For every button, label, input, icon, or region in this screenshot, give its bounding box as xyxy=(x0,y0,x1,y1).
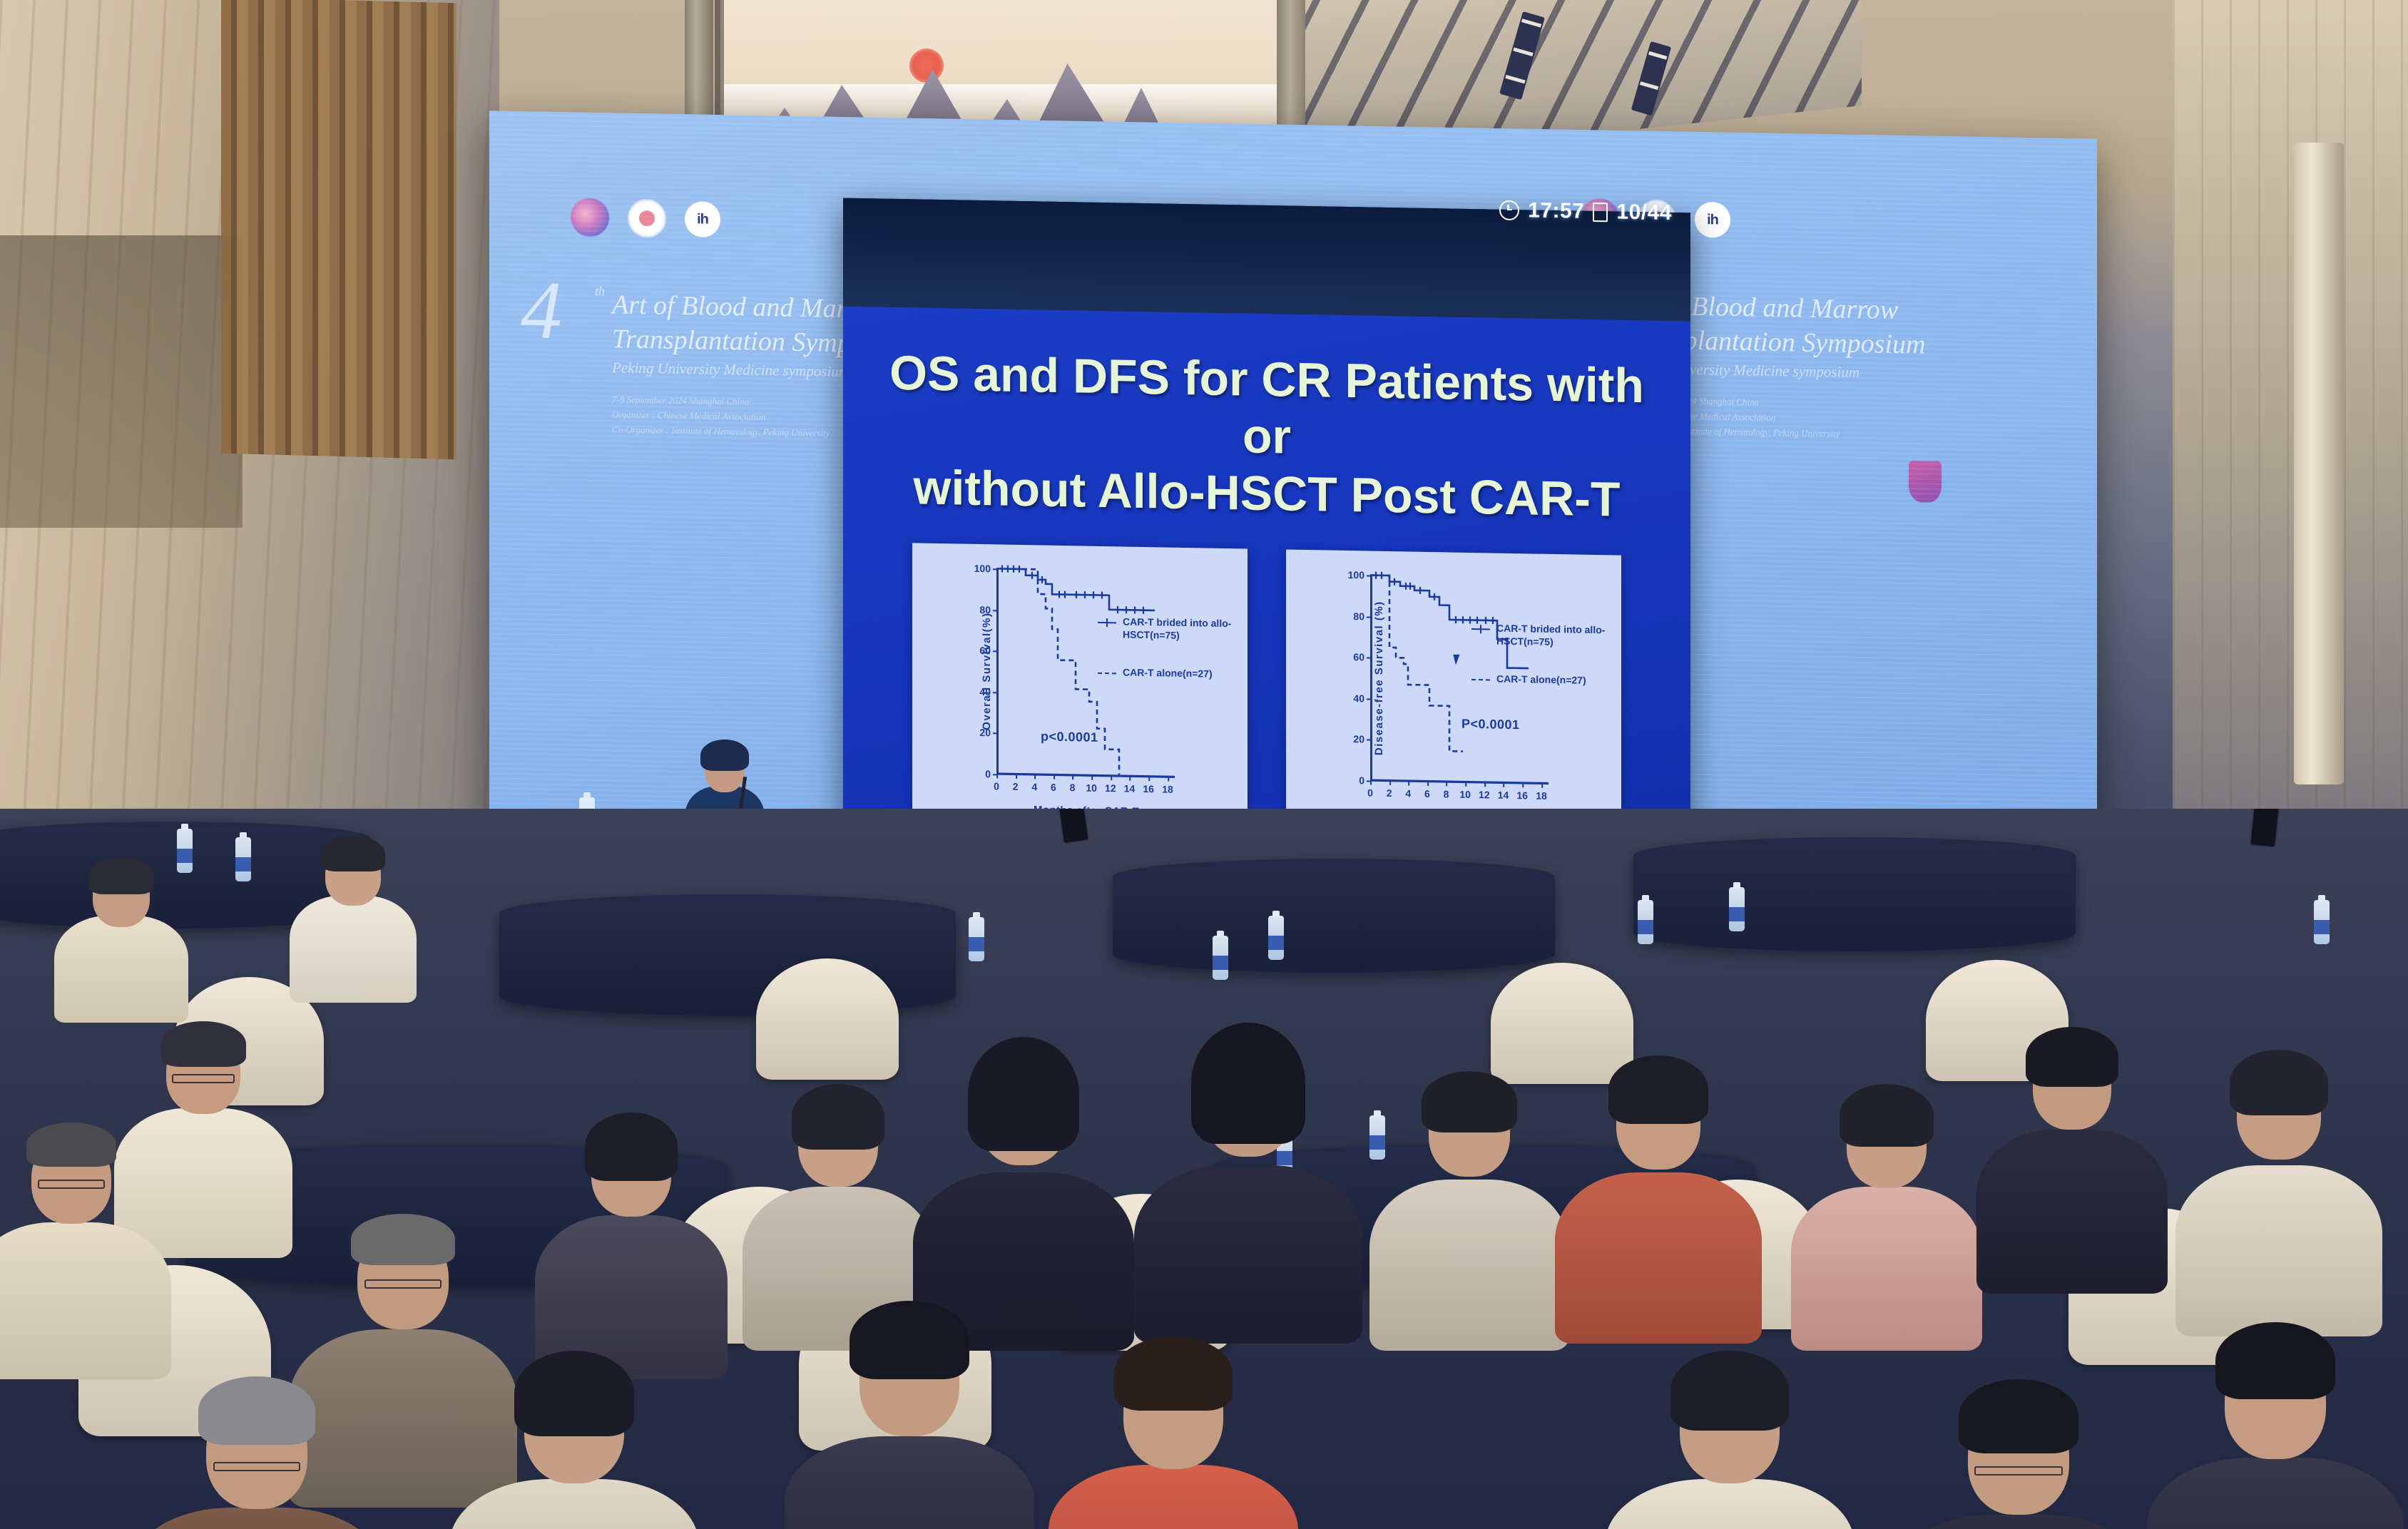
slide-status-bar: 17:57 10/44 xyxy=(1499,198,1672,225)
shanghai-badge-logo xyxy=(1909,461,1942,503)
audience-member xyxy=(1562,1051,1755,1322)
dfs-legend-label: CAR-T alone(n=27) xyxy=(1496,673,1586,687)
person-body xyxy=(2175,1165,2382,1336)
dfs-ytick: 100 xyxy=(1348,569,1364,581)
dfs-ytick: 80 xyxy=(1353,610,1364,622)
audience-member xyxy=(1377,1065,1562,1322)
audience-member xyxy=(1897,1379,2140,1529)
person-hair xyxy=(1670,1351,1789,1431)
audience-member xyxy=(792,1301,1027,1529)
water-bottle xyxy=(235,837,251,881)
solid-line-key-icon xyxy=(1098,618,1116,628)
slide-time: 17:57 xyxy=(1528,198,1584,223)
person-hair xyxy=(1959,1379,2078,1453)
os-legend-item: CAR-T alone(n=27) xyxy=(1098,665,1240,681)
audience-member xyxy=(542,1108,720,1351)
os-ytick: 20 xyxy=(979,727,991,738)
person-body xyxy=(1976,1130,2168,1294)
audience-member xyxy=(2154,1322,2397,1529)
dfs-xtick: 4 xyxy=(1405,787,1411,799)
os-xtick: 18 xyxy=(1162,783,1173,794)
os-censor-marks xyxy=(1002,566,1143,614)
smartphone xyxy=(1057,809,1090,844)
dfs-legend: CAR-T brided into allo-HSCT(n=75) CAR-T … xyxy=(1471,621,1614,712)
mural-sun xyxy=(909,48,944,83)
audience-member xyxy=(2183,1044,2375,1315)
dfs-ytick: 0 xyxy=(1359,774,1364,786)
dfs-ytick: 20 xyxy=(1353,734,1364,745)
os-xtick: 12 xyxy=(1105,782,1116,794)
os-xtick: 2 xyxy=(1013,781,1019,792)
person-hair xyxy=(88,857,154,894)
os-ytick: 60 xyxy=(979,645,991,656)
person-hair xyxy=(321,836,385,871)
person-hair xyxy=(968,1037,1079,1151)
person-hair xyxy=(351,1214,455,1265)
person-body xyxy=(1555,1172,1762,1344)
person-body xyxy=(1369,1180,1569,1351)
solid-line-key-icon xyxy=(1471,624,1490,634)
water-bottle xyxy=(1268,916,1284,960)
os-xtick: 8 xyxy=(1070,782,1076,793)
os-xtick: 4 xyxy=(1031,781,1037,792)
glasses-icon xyxy=(38,1180,105,1189)
audience-member xyxy=(1612,1351,1847,1529)
person-hair xyxy=(1608,1055,1708,1124)
dfs-xtick: 18 xyxy=(1536,790,1547,802)
slide-counter: 10/44 xyxy=(1616,200,1672,225)
pillar xyxy=(2294,143,2344,784)
person-hair xyxy=(1422,1071,1517,1132)
audience-member xyxy=(749,1080,927,1322)
clock-icon xyxy=(1499,200,1519,220)
banner-ordinal: 4 xyxy=(521,280,562,342)
person-hair xyxy=(585,1113,678,1181)
person-hair xyxy=(198,1376,315,1445)
flower-logo xyxy=(571,198,609,237)
dfs-legend-item: CAR-T brided into allo-HSCT(n=75) xyxy=(1471,621,1614,650)
university-seal-logo xyxy=(628,199,666,238)
right-wall xyxy=(2173,0,2408,948)
glasses-icon xyxy=(213,1462,300,1471)
os-y-axis-label: Overall Survival(%) xyxy=(981,612,993,730)
dfs-xtick: 8 xyxy=(1444,788,1449,799)
audience-member xyxy=(920,1037,1127,1336)
os-xtick: 10 xyxy=(1086,782,1097,794)
charts-row: Overall Survival(%) Months after CAR-T 0… xyxy=(843,542,1690,842)
audience-member xyxy=(1056,1336,1291,1529)
person-body xyxy=(290,896,417,1003)
os-xtick: 0 xyxy=(994,780,999,792)
overall-survival-chart: Overall Survival(%) Months after CAR-T 0… xyxy=(912,543,1248,834)
conference-photo: ih 4 th Art of Blood and Marrow Transpla… xyxy=(0,0,2408,1529)
dfs-xtick: 2 xyxy=(1387,787,1392,799)
disease-free-survival-chart: Disease-free Survival (%) Months after C… xyxy=(1286,549,1621,840)
os-ytick: 0 xyxy=(985,768,991,779)
audience-member xyxy=(57,850,185,1007)
dfs-series-car-t-alone xyxy=(1370,576,1463,752)
person-body xyxy=(128,1508,385,1529)
person-hair xyxy=(514,1351,634,1436)
person-body xyxy=(0,1222,171,1379)
person-body xyxy=(1134,1165,1362,1344)
person-hair xyxy=(26,1123,116,1167)
glasses-icon xyxy=(364,1279,442,1289)
slide-title: OS and DFS for CR Patients with or witho… xyxy=(843,344,1690,530)
os-legend-label: CAR-T brided into allo-HSCT(n=75) xyxy=(1123,615,1240,643)
wall-panel xyxy=(0,235,243,528)
wood-slat-wall xyxy=(221,0,456,459)
os-legend: CAR-T brided into allo-HSCT(n=75) CAR-T … xyxy=(1098,615,1240,705)
water-bottle xyxy=(969,917,984,961)
person-body xyxy=(54,916,188,1023)
dfs-censor-marks xyxy=(1376,572,1493,624)
os-pvalue: p<0.0001 xyxy=(1041,729,1098,745)
dfs-legend-item: CAR-T alone(n=27) xyxy=(1471,672,1614,687)
audience-area xyxy=(0,809,2408,1529)
person-body xyxy=(2147,1458,2404,1529)
water-bottle xyxy=(1638,900,1653,944)
dfs-legend-label: CAR-T brided into allo-HSCT(n=75) xyxy=(1496,622,1614,650)
audience-member xyxy=(1797,1080,1976,1322)
water-bottle xyxy=(1729,887,1745,931)
glasses-icon xyxy=(172,1074,235,1083)
audience-member xyxy=(456,1351,692,1529)
dfs-xtick: 6 xyxy=(1424,788,1430,799)
dfs-xtick: 12 xyxy=(1479,789,1490,800)
audience-member xyxy=(292,833,414,983)
person-body xyxy=(1049,1465,1298,1529)
dashed-line-key-icon xyxy=(1098,668,1116,678)
person-body xyxy=(1791,1187,1982,1351)
dashed-line-key-icon xyxy=(1471,675,1490,685)
water-bottle xyxy=(2314,900,2330,944)
dfs-xtick: 10 xyxy=(1459,789,1471,800)
os-xtick: 16 xyxy=(1143,783,1154,794)
slide-top-band: 17:57 10/44 xyxy=(843,198,1690,322)
person-hair xyxy=(2215,1322,2335,1399)
person-hair xyxy=(1114,1336,1233,1411)
person-hair xyxy=(2026,1027,2118,1087)
os-ytick: 100 xyxy=(974,563,991,574)
person-hair xyxy=(160,1021,246,1067)
os-xtick: 6 xyxy=(1051,782,1056,793)
ihs-logo: ih xyxy=(1695,202,1730,238)
person-hair xyxy=(1840,1084,1934,1147)
banquet-table xyxy=(1633,837,2076,951)
os-series-allo-hsct xyxy=(996,568,1155,610)
smartphone xyxy=(2249,809,2280,849)
os-xtick: 14 xyxy=(1124,783,1136,794)
dfs-ytick: 60 xyxy=(1353,651,1364,663)
ihs-logo: ih xyxy=(685,201,720,237)
os-legend-label: CAR-T alone(n=27) xyxy=(1123,665,1213,680)
audience-chair xyxy=(756,958,899,1080)
person-hair xyxy=(1191,1023,1305,1144)
speaker-hair xyxy=(700,740,749,771)
person-body xyxy=(1890,1515,2147,1529)
person-body xyxy=(785,1436,1034,1529)
person-hair xyxy=(850,1301,969,1379)
audience-member xyxy=(0,1115,164,1358)
banquet-table xyxy=(1113,859,1555,973)
dfs-xtick: 16 xyxy=(1516,789,1528,801)
os-legend-item: CAR-T brided into allo-HSCT(n=75) xyxy=(1098,615,1240,643)
banner-ordinal-suffix: th xyxy=(595,284,605,299)
glasses-icon xyxy=(1974,1466,2063,1476)
audience-member xyxy=(136,1372,378,1529)
slide-title-line1: OS and DFS for CR Patients with or xyxy=(872,344,1662,472)
audience-member xyxy=(1983,1023,2161,1265)
dfs-xtick: 0 xyxy=(1367,787,1373,798)
os-ytick: 40 xyxy=(979,686,991,697)
person-body xyxy=(1605,1479,1855,1529)
audience-member xyxy=(1141,1023,1355,1336)
os-ytick: 80 xyxy=(979,604,991,615)
person-body xyxy=(449,1479,699,1529)
dfs-pvalue: P<0.0001 xyxy=(1461,717,1520,732)
page-icon xyxy=(1593,202,1608,221)
person-hair xyxy=(2230,1050,2328,1115)
dfs-ytick: 40 xyxy=(1353,692,1364,704)
person-hair xyxy=(792,1084,884,1150)
dfs-xtick: 14 xyxy=(1498,789,1509,801)
water-bottle xyxy=(1213,936,1228,980)
